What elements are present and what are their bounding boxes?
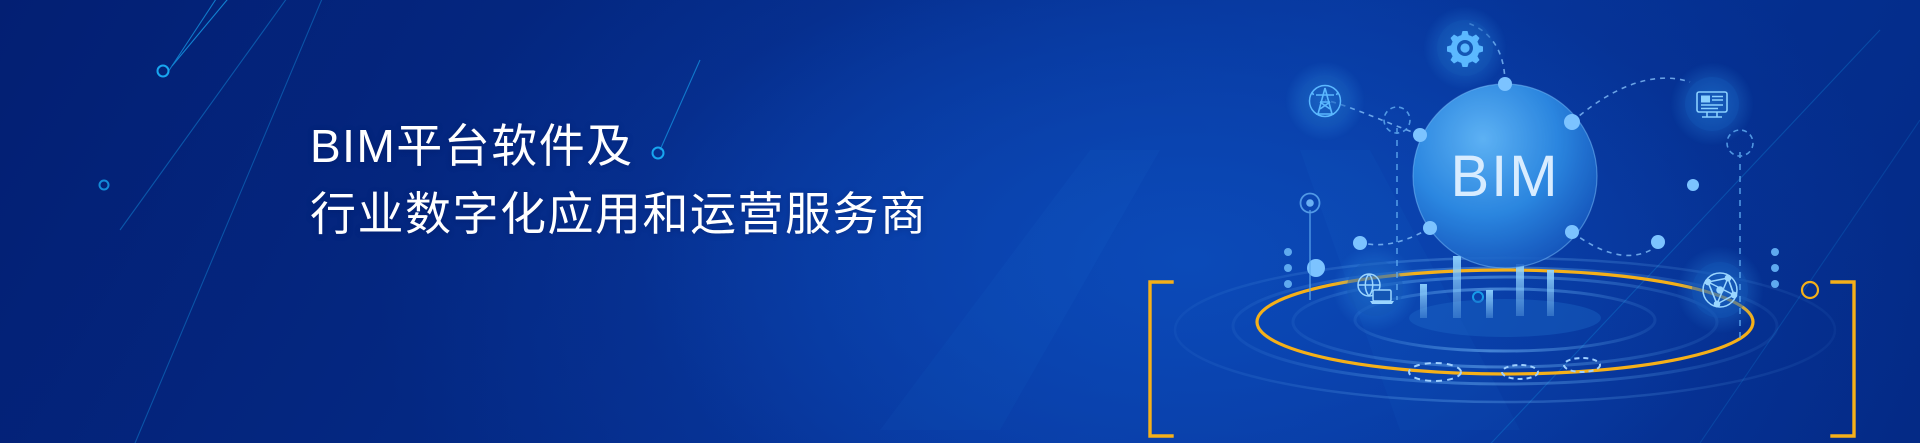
node-bubble-tower[interactable] bbox=[1285, 61, 1365, 141]
gear-icon bbox=[1447, 31, 1483, 67]
bim-illustration: BIM bbox=[1120, 0, 1920, 443]
data-bar-5 bbox=[1547, 270, 1554, 316]
dot-column-left bbox=[1284, 248, 1292, 288]
ground-ring-core bbox=[1409, 299, 1601, 337]
headline-line-1: BIM平台软件及 bbox=[310, 112, 928, 180]
bim-center-label: BIM bbox=[1450, 144, 1559, 209]
data-bar-1 bbox=[1420, 284, 1427, 318]
arc-to-network bbox=[1572, 232, 1660, 255]
bim-sphere: BIM bbox=[1413, 84, 1597, 268]
dot-marker-2 bbox=[100, 181, 109, 190]
node-bubble-gear[interactable] bbox=[1423, 6, 1507, 90]
node-bubble-network[interactable] bbox=[1676, 246, 1764, 334]
hollow-marker-right bbox=[1802, 282, 1818, 298]
hero-banner: BIM平台软件及 行业数字化应用和运营服务商 bbox=[0, 0, 1920, 443]
data-bar-3 bbox=[1486, 290, 1493, 318]
data-bar-4 bbox=[1516, 264, 1524, 316]
bracket-left bbox=[1150, 282, 1172, 436]
node-bubble-cloud[interactable] bbox=[1332, 245, 1418, 331]
diagonal-line-3 bbox=[130, 0, 330, 443]
bracket-right bbox=[1832, 282, 1854, 436]
diagonal-line-2 bbox=[120, 0, 300, 230]
headline-line-2: 行业数字化应用和运营服务商 bbox=[310, 180, 928, 248]
hero-headline: BIM平台软件及 行业数字化应用和运营服务商 bbox=[310, 112, 928, 248]
stem-far-left-dot bbox=[1306, 199, 1314, 207]
diagonal-line-1b bbox=[172, 0, 252, 66]
dot-marker-1 bbox=[158, 66, 169, 77]
arc-to-cloud bbox=[1358, 228, 1430, 245]
dot-column-right bbox=[1771, 248, 1779, 288]
diagonal-line-1 bbox=[168, 0, 222, 72]
data-bar-2 bbox=[1453, 256, 1461, 318]
node-bubble-monitor[interactable] bbox=[1670, 62, 1754, 146]
